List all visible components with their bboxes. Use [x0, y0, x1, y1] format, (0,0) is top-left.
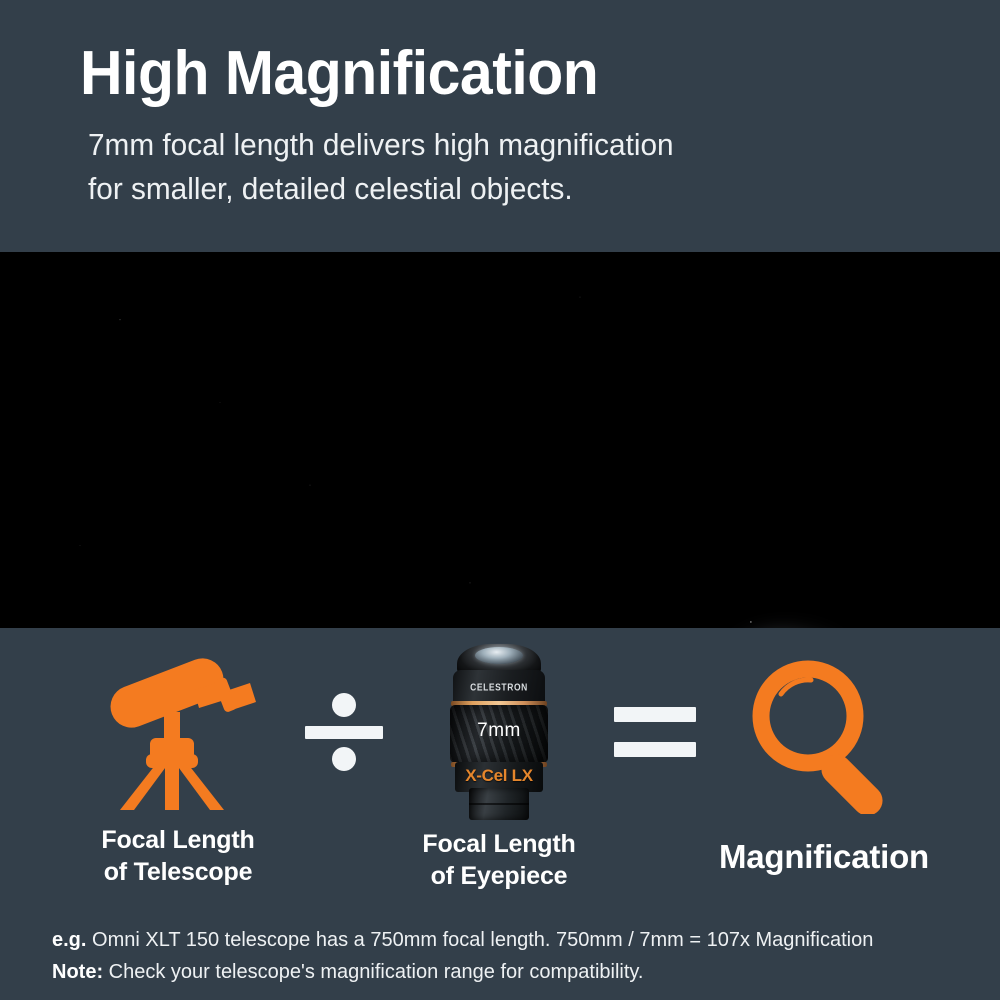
- example-text: Omni XLT 150 telescope has a 750mm focal…: [92, 929, 873, 951]
- label-magnification: Magnification: [706, 836, 942, 878]
- eyepiece-model-label: X-Cel LX: [445, 766, 553, 786]
- page-title: High Magnification: [80, 42, 954, 105]
- subtitle-line-2: for smaller, detailed celestial objects.: [88, 167, 964, 211]
- subtitle-line-1: 7mm focal length delivers high magnifica…: [88, 123, 964, 167]
- equals-slot: [596, 642, 714, 822]
- label-telescope-line-2: of Telescope: [72, 856, 284, 888]
- subtitle: 7mm focal length delivers high magnifica…: [88, 123, 964, 211]
- formula-section: CELESTRON 7mm X-Cel LX: [0, 628, 1000, 1000]
- equals-bar-bottom: [614, 742, 696, 757]
- eyepiece-barrel: [469, 788, 529, 820]
- telescope-icon: [90, 650, 266, 814]
- division-icon: [305, 693, 383, 771]
- eyepiece-slot: CELESTRON 7mm X-Cel LX: [404, 642, 594, 822]
- example-prefix: e.g.: [52, 929, 86, 951]
- example-note: e.g. Omni XLT 150 telescope has a 750mm …: [52, 924, 952, 956]
- footnotes: e.g. Omni XLT 150 telescope has a 750mm …: [52, 924, 952, 989]
- nebula-stars: [658, 574, 916, 628]
- eyepiece-product-image: CELESTRON 7mm X-Cel LX: [439, 644, 559, 820]
- formula-labels: Focal Length of Telescope Focal Length o…: [0, 824, 1000, 910]
- note-prefix: Note:: [52, 961, 103, 983]
- eyepiece-brand-label: CELESTRON: [453, 681, 545, 693]
- equals-bar-top: [614, 707, 696, 722]
- note-text: Check your telescope's magnification ran…: [109, 961, 644, 983]
- label-focal-length-telescope: Focal Length of Telescope: [72, 824, 284, 888]
- division-dot-top: [332, 693, 356, 717]
- label-eyepiece-line-1: Focal Length: [404, 828, 594, 860]
- label-telescope-line-1: Focal Length: [72, 824, 284, 856]
- compatibility-note: Note: Check your telescope's magnificati…: [52, 956, 952, 988]
- label-focal-length-eyepiece: Focal Length of Eyepiece: [404, 828, 594, 892]
- division-bar: [305, 726, 383, 739]
- magnifier-slot: [718, 642, 930, 822]
- magnifying-glass-icon: [739, 650, 909, 814]
- formula-row: CELESTRON 7mm X-Cel LX: [0, 642, 1000, 822]
- division-dot-bottom: [332, 747, 356, 771]
- astrophotography-band: [0, 252, 1000, 628]
- header-section: High Magnification 7mm focal length deli…: [0, 0, 1000, 252]
- label-eyepiece-line-2: of Eyepiece: [404, 860, 594, 892]
- telescope-slot: [72, 642, 284, 822]
- starfield-background: [0, 252, 1000, 628]
- equals-icon: [614, 707, 696, 757]
- nebula-image: [672, 588, 902, 628]
- infographic-page: High Magnification 7mm focal length deli…: [0, 0, 1000, 1000]
- divide-slot: [288, 642, 400, 822]
- eyepiece-lens: [475, 647, 523, 664]
- eyepiece-focal-length-label: 7mm: [450, 720, 548, 742]
